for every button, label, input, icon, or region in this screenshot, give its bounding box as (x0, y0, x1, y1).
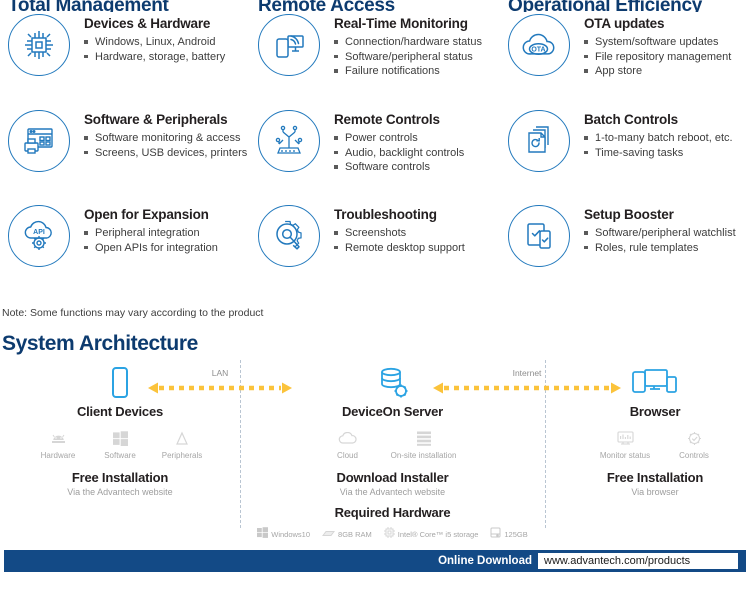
feature-bullets: Windows, Linux, Android Hardware, storag… (84, 35, 225, 64)
feature-card-remote-controls: Remote Controls Power controls Audio, ba… (250, 108, 500, 203)
arch-subicon-row: Cloud On-site installation (255, 428, 530, 460)
feature-card-ota-updates: OTA OTA updates System/software updates … (500, 12, 750, 108)
feature-bullets: Power controls Audio, backlight controls… (334, 131, 464, 175)
feature-bullets: Software/peripheral watchlist Roles, rul… (584, 226, 736, 255)
feature-bullet: App store (584, 64, 731, 79)
arch-node-label: Client Devices (0, 404, 240, 419)
arch-hardware-item: Windows10 (257, 525, 310, 543)
online-download-url[interactable]: www.advantech.com/products (538, 553, 738, 569)
architecture-diagram: LAN Internet Client Devices (0, 360, 750, 535)
api-cloud-gear-icon: API (8, 205, 70, 267)
feature-bullet: Audio, backlight controls (334, 146, 464, 161)
arch-subicon-label: Cloud (317, 451, 379, 460)
feature-card-text: Real-Time Monitoring Connection/hardware… (334, 12, 482, 79)
gear-wrench-icon (258, 205, 320, 267)
feature-bullets: Screenshots Remote desktop support (334, 226, 465, 255)
feature-card-real-time-monitoring: Real-Time Monitoring Connection/hardware… (250, 12, 500, 108)
controls-gear-icon (664, 428, 724, 448)
feature-card-setup-booster: Setup Booster Software/peripheral watchl… (500, 203, 750, 302)
arch-subicon: Cloud (317, 428, 379, 460)
feature-bullet: Roles, rule templates (584, 241, 736, 256)
feature-bullets: System/software updates File repository … (584, 35, 731, 79)
arch-subicon: Software (89, 428, 151, 460)
feature-bullet: Connection/hardware status (334, 35, 482, 50)
feature-card-text: Batch Controls 1-to-many batch reboot, e… (584, 108, 733, 160)
on-site-server-icon (379, 428, 469, 448)
arch-hardware-item: 8GB RAM (322, 525, 372, 543)
arch-hardware-label: Windows10 (271, 530, 310, 539)
windows-software-icon (89, 428, 151, 448)
hard-drive-icon (490, 525, 501, 543)
column-heading-remote-access: Remote Access (250, 0, 500, 12)
feature-card-devices-hardware: Devices & Hardware Windows, Linux, Andro… (0, 12, 250, 108)
cpu-chip-icon (8, 14, 70, 76)
feature-bullet: Hardware, storage, battery (84, 50, 225, 65)
feature-card-text: Setup Booster Software/peripheral watchl… (584, 203, 736, 255)
arch-subicon-row: Monitor status Controls (560, 428, 750, 460)
arch-node-label: Browser (560, 404, 750, 419)
arch-subicon: Peripherals (151, 428, 213, 460)
software-window-printer-icon (8, 110, 70, 172)
monitor-status-icon (586, 428, 664, 448)
cloud-icon (317, 428, 379, 448)
feature-title: Troubleshooting (334, 207, 465, 222)
arch-subicon-row: Hardware Software Peripherals (0, 428, 240, 460)
feature-bullet: Software/peripheral watchlist (584, 226, 736, 241)
arch-subicon-label: Peripherals (151, 451, 213, 460)
arch-hardware-item: Intel® Core™ i5 storage (384, 525, 479, 543)
feature-bullets: Software monitoring & access Screens, US… (84, 131, 247, 160)
feature-title: Open for Expansion (84, 207, 218, 222)
feature-card-text: Devices & Hardware Windows, Linux, Andro… (84, 12, 225, 64)
online-download-bar: Online Download www.advantech.com/produc… (4, 550, 746, 572)
feature-title: Remote Controls (334, 112, 464, 127)
feature-bullet: Software controls (334, 160, 464, 175)
feature-bullet: 1-to-many batch reboot, etc. (584, 131, 733, 146)
arch-subicon-label: Monitor status (586, 451, 664, 460)
feature-title: OTA updates (584, 16, 731, 31)
cpu-icon (384, 525, 395, 543)
svg-text:API: API (33, 229, 45, 236)
feature-bullet: Software/peripheral status (334, 50, 482, 65)
server-database-gear-icon (255, 360, 530, 400)
arch-install-title: Free Installation (0, 470, 240, 485)
product-note: Note: Some functions may vary according … (2, 307, 263, 319)
arch-hardware-title: Required Hardware (255, 505, 530, 520)
column-heading-total-management: Total Management (0, 0, 250, 12)
smartphone-icon (0, 360, 240, 400)
arch-node-browser: Browser Monitor status Con (560, 360, 750, 497)
arch-subicon: Monitor status (586, 428, 664, 460)
circuit-control-icon (258, 110, 320, 172)
feature-card-open-for-expansion: API Open for Expansion Peripheral integr… (0, 203, 250, 302)
multi-device-browser-icon (560, 360, 750, 400)
feature-bullet: Time-saving tasks (584, 146, 733, 161)
devices-checklist-icon (508, 205, 570, 267)
arch-subicon-label: Software (89, 451, 151, 460)
section-title-system-architecture: System Architecture (2, 332, 198, 356)
feature-bullet: System/software updates (584, 35, 731, 50)
arch-install-title: Download Installer (255, 470, 530, 485)
arch-node-client-devices: Client Devices Hardware (0, 360, 240, 497)
arch-hardware-item: 125GB (490, 525, 527, 543)
feature-title: Setup Booster (584, 207, 736, 222)
arch-hardware-label: 8GB RAM (338, 530, 372, 539)
arch-node-deviceon-server: DeviceOn Server Cloud On-site installat (255, 360, 530, 543)
arch-subicon: Controls (664, 428, 724, 460)
feature-card-batch-controls: Batch Controls 1-to-many batch reboot, e… (500, 108, 750, 203)
arch-subicon-label: Hardware (27, 451, 89, 460)
feature-bullets: Peripheral integration Open APIs for int… (84, 226, 218, 255)
arch-subicon-label: Controls (664, 451, 724, 460)
feature-bullet: Remote desktop support (334, 241, 465, 256)
arch-subicon-label: On-site installation (379, 451, 469, 460)
feature-bullets: 1-to-many batch reboot, etc. Time-saving… (584, 131, 733, 160)
peripherals-icon (151, 428, 213, 448)
arch-install-title: Free Installation (560, 470, 750, 485)
feature-bullet: Screenshots (334, 226, 465, 241)
arch-hardware-row: Windows10 8GB RAM Intel® Core™ i5 sto (255, 525, 530, 543)
ota-cloud-icon: OTA (508, 14, 570, 76)
feature-card-software-peripherals: Software & Peripherals Software monitori… (0, 108, 250, 203)
feature-bullet: Peripheral integration (84, 226, 218, 241)
svg-text:OTA: OTA (531, 47, 545, 54)
realtime-monitor-phone-icon (258, 14, 320, 76)
feature-title: Real-Time Monitoring (334, 16, 482, 31)
arch-node-label: DeviceOn Server (255, 404, 530, 419)
feature-card-text: Open for Expansion Peripheral integratio… (84, 203, 218, 255)
arch-install-sub: Via the Advantech website (0, 487, 240, 497)
feature-card-text: Remote Controls Power controls Audio, ba… (334, 108, 464, 175)
feature-bullet: Open APIs for integration (84, 241, 218, 256)
feature-title: Devices & Hardware (84, 16, 225, 31)
online-download-label: Online Download (438, 555, 532, 567)
feature-card-text: OTA updates System/software updates File… (584, 12, 731, 79)
arch-install-sub: Via the Advantech website (255, 487, 530, 497)
android-hardware-icon (27, 428, 89, 448)
feature-title: Software & Peripherals (84, 112, 247, 127)
feature-bullet: Power controls (334, 131, 464, 146)
arch-subicon: Hardware (27, 428, 89, 460)
arch-hardware-label: 125GB (504, 530, 527, 539)
arch-subicon: On-site installation (379, 428, 469, 460)
feature-grid: Total Management Remote Access Operation… (0, 0, 750, 302)
feature-bullet: Failure notifications (334, 64, 482, 79)
feature-title: Batch Controls (584, 112, 733, 127)
ram-stick-icon (322, 525, 335, 543)
arch-install-sub: Via browser (560, 487, 750, 497)
feature-bullet: Screens, USB devices, printers (84, 146, 247, 161)
stacked-pages-refresh-icon (508, 110, 570, 172)
feature-bullet: Software monitoring & access (84, 131, 247, 146)
feature-card-text: Software & Peripherals Software monitori… (84, 108, 247, 160)
column-heading-operational-efficiency: Operational Efficiency (500, 0, 750, 12)
feature-bullet: Windows, Linux, Android (84, 35, 225, 50)
feature-bullet: File repository management (584, 50, 731, 65)
windows-icon (257, 525, 268, 543)
feature-bullets: Connection/hardware status Software/peri… (334, 35, 482, 79)
arch-hardware-label: Intel® Core™ i5 storage (398, 530, 479, 539)
feature-card-text: Troubleshooting Screenshots Remote deskt… (334, 203, 465, 255)
feature-card-troubleshooting: Troubleshooting Screenshots Remote deskt… (250, 203, 500, 302)
